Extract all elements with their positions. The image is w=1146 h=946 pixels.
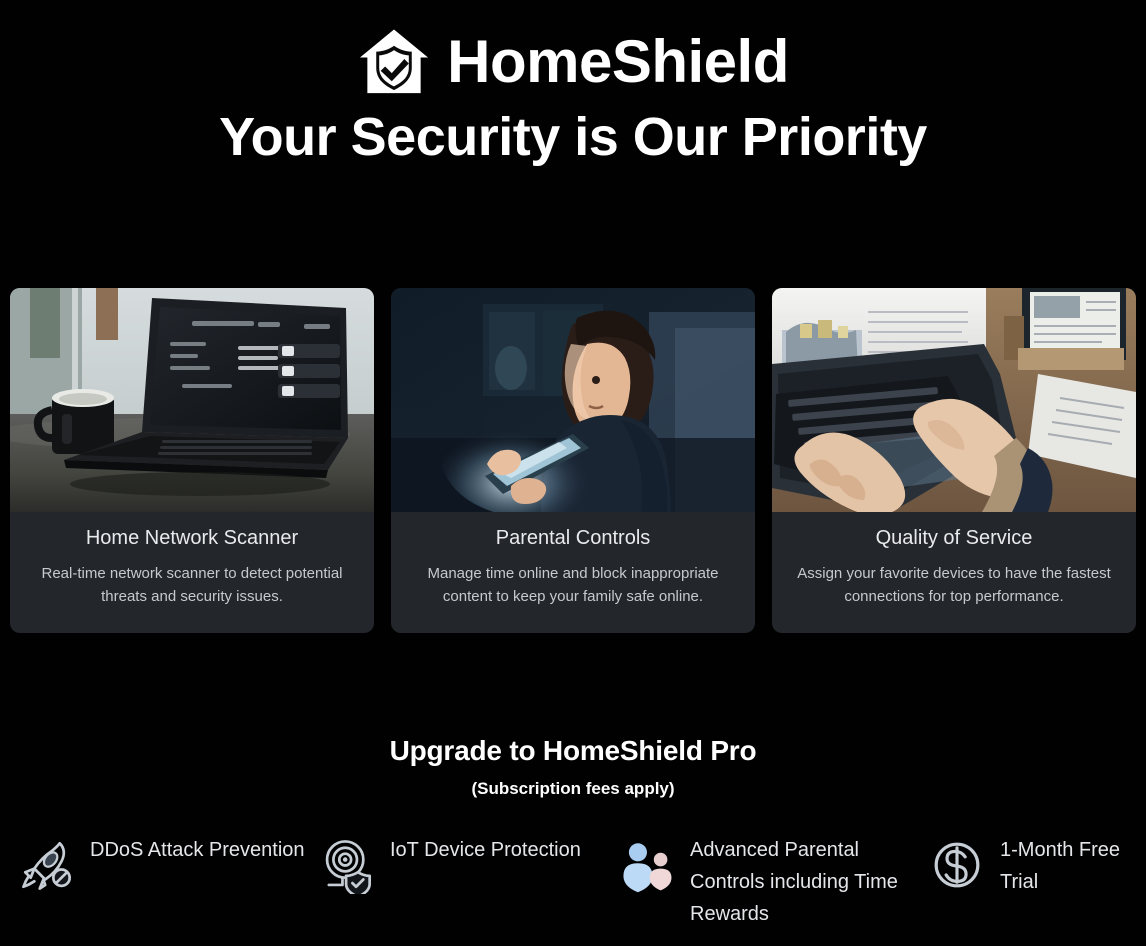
- homeshield-promo-page: HomeShield Your Security is Our Priority: [0, 0, 1146, 946]
- feature-card-title: Quality of Service: [786, 526, 1122, 550]
- pro-feature-label: IoT Device Protection: [390, 832, 581, 866]
- feature-card-body: Quality of Service Assign your favorite …: [772, 512, 1136, 633]
- dollar-circle-icon: [928, 834, 986, 892]
- home-shield-check-icon: [357, 25, 431, 99]
- feature-card-quality-of-service[interactable]: Quality of Service Assign your favorite …: [772, 288, 1136, 633]
- boy-using-tablet-in-dark-room-photo: [391, 288, 755, 512]
- pro-feature-ddos-attack-prevention: DDoS Attack Prevention: [18, 832, 318, 892]
- parent-and-child-icon: [618, 834, 676, 892]
- feature-card-home-network-scanner[interactable]: Home Network Scanner Real-time network s…: [10, 288, 374, 633]
- brand-row: HomeShield: [0, 22, 1146, 102]
- laptop-on-desk-with-mug-photo: [10, 288, 374, 512]
- page-header: HomeShield Your Security is Our Priority: [0, 0, 1146, 167]
- feature-card-list: Home Network Scanner Real-time network s…: [10, 288, 1136, 633]
- pro-feature-one-month-free-trial: 1-Month Free Trial: [928, 832, 1128, 898]
- feature-card-body: Home Network Scanner Real-time network s…: [10, 512, 374, 633]
- feature-card-title: Parental Controls: [405, 526, 741, 550]
- feature-card-description: Manage time online and block inappropria…: [405, 562, 741, 609]
- feature-card-parental-controls[interactable]: Parental Controls Manage time online and…: [391, 288, 755, 633]
- pro-feature-label: 1-Month Free Trial: [1000, 832, 1128, 898]
- pro-feature-iot-device-protection: IoT Device Protection: [318, 832, 618, 892]
- upgrade-subtitle: (Subscription fees apply): [0, 779, 1146, 799]
- upgrade-section: Upgrade to HomeShield Pro (Subscription …: [0, 735, 1146, 799]
- upgrade-title: Upgrade to HomeShield Pro: [0, 735, 1146, 767]
- feature-card-body: Parental Controls Manage time online and…: [391, 512, 755, 633]
- hands-typing-on-laptop-keyboard-photo: [772, 288, 1136, 512]
- webcam-shield-check-icon: [318, 834, 376, 892]
- feature-card-description: Real-time network scanner to detect pote…: [24, 562, 360, 609]
- feature-card-title: Home Network Scanner: [24, 526, 360, 550]
- pro-feature-label: DDoS Attack Prevention: [90, 832, 305, 866]
- rocket-blocked-icon: [18, 834, 76, 892]
- pro-feature-strip: DDoS Attack Prevention IoT Device Protec…: [18, 832, 1128, 930]
- pro-feature-label: Advanced Parental Controls including Tim…: [690, 832, 928, 930]
- pro-feature-advanced-parental-controls: Advanced Parental Controls including Tim…: [618, 832, 928, 930]
- page-tagline: Your Security is Our Priority: [0, 108, 1146, 167]
- feature-card-description: Assign your favorite devices to have the…: [786, 562, 1122, 609]
- brand-name: HomeShield: [447, 32, 789, 92]
